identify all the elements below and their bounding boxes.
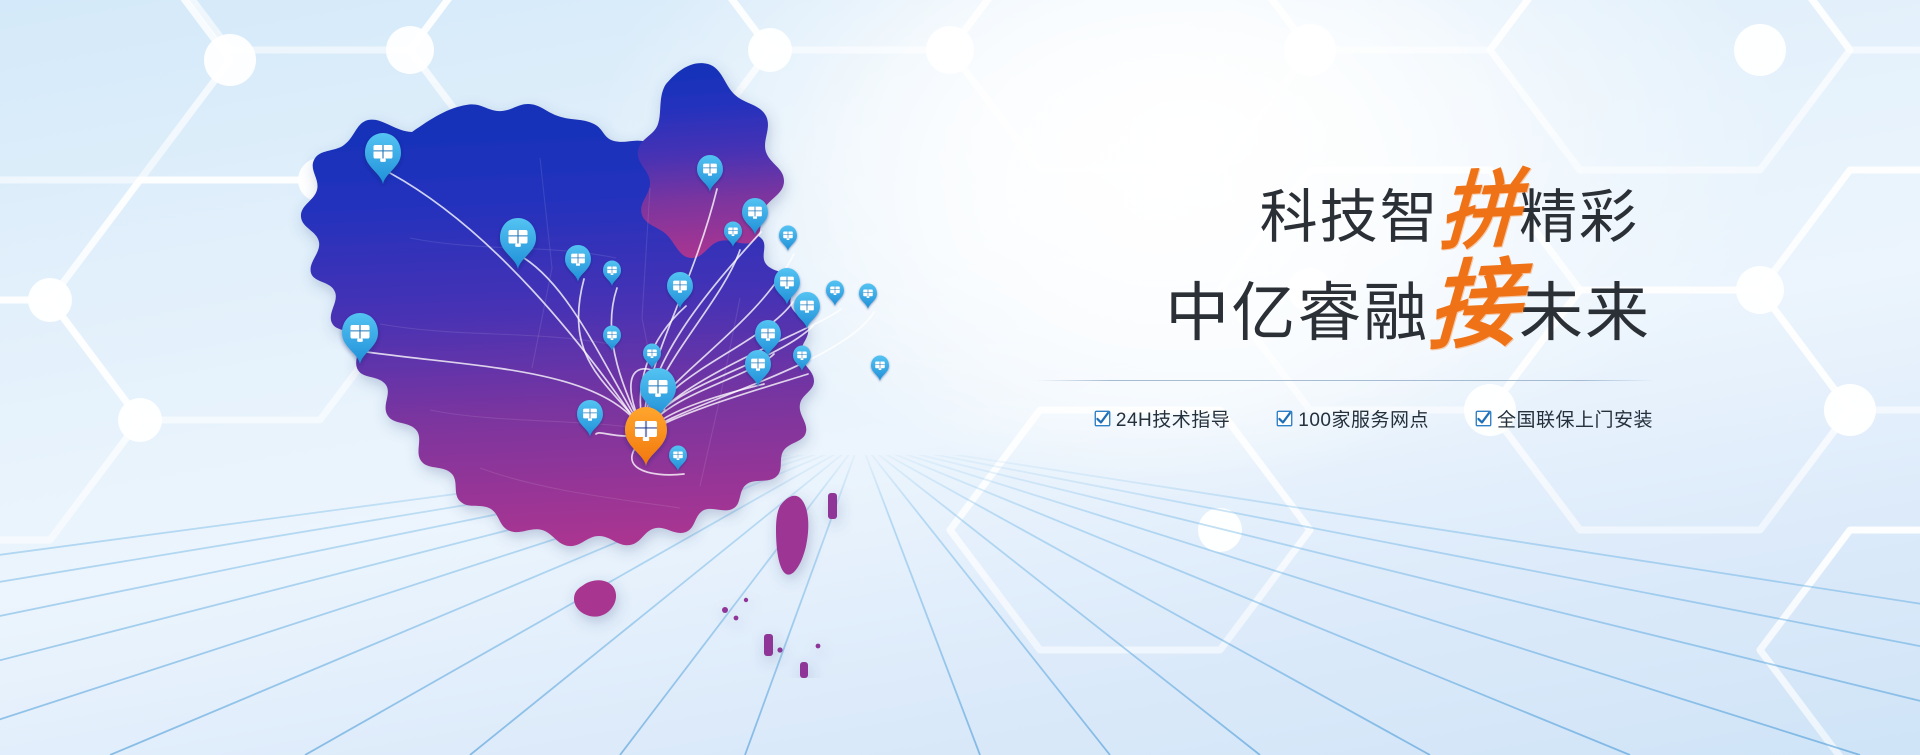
- feature-label: 100家服务网点: [1298, 405, 1429, 432]
- checkbox-checked-icon: [1475, 410, 1492, 427]
- headline-line1-accent: 拼: [1437, 165, 1521, 260]
- map-pin-service-point[interactable]: [779, 226, 797, 252]
- headline-line2-accent: 接: [1426, 254, 1522, 362]
- headline-line-2: 中亿睿融接未来: [955, 261, 1655, 354]
- feature-label: 24H技术指导: [1116, 405, 1230, 432]
- headline-line-1: 科技智拼精彩: [955, 172, 1655, 253]
- china-service-network-map: [180, 38, 900, 678]
- checkbox-checked-icon: [1276, 410, 1293, 427]
- feature-item: 100家服务网点: [1276, 405, 1429, 432]
- feature-item: 24H技术指导: [1094, 405, 1230, 432]
- headline-line1-before: 科技智: [1260, 185, 1440, 250]
- headline-line1-after: 精彩: [1519, 185, 1639, 250]
- feature-list: 24H技术指导100家服务网点全国联保上门安装: [955, 405, 1655, 432]
- checkbox-checked-icon: [1094, 410, 1111, 427]
- hero-copy-block: 科技智拼精彩 中亿睿融接未来 24H技术指导100家服务网点全国联保上门安装: [955, 172, 1655, 432]
- map-svg: [180, 38, 940, 678]
- map-pin-service-point[interactable]: [826, 281, 844, 307]
- headline-line2-before: 中亿睿融: [1165, 277, 1429, 349]
- map-pin-service-point[interactable]: [859, 284, 877, 310]
- feature-label: 全国联保上门安装: [1497, 405, 1653, 432]
- headline-line2-after: 未来: [1519, 277, 1651, 349]
- copy-divider: [1035, 380, 1655, 381]
- feature-item: 全国联保上门安装: [1475, 405, 1653, 432]
- hero-banner: 科技智拼精彩 中亿睿融接未来 24H技术指导100家服务网点全国联保上门安装: [0, 0, 1920, 755]
- map-pin-service-point[interactable]: [871, 356, 889, 382]
